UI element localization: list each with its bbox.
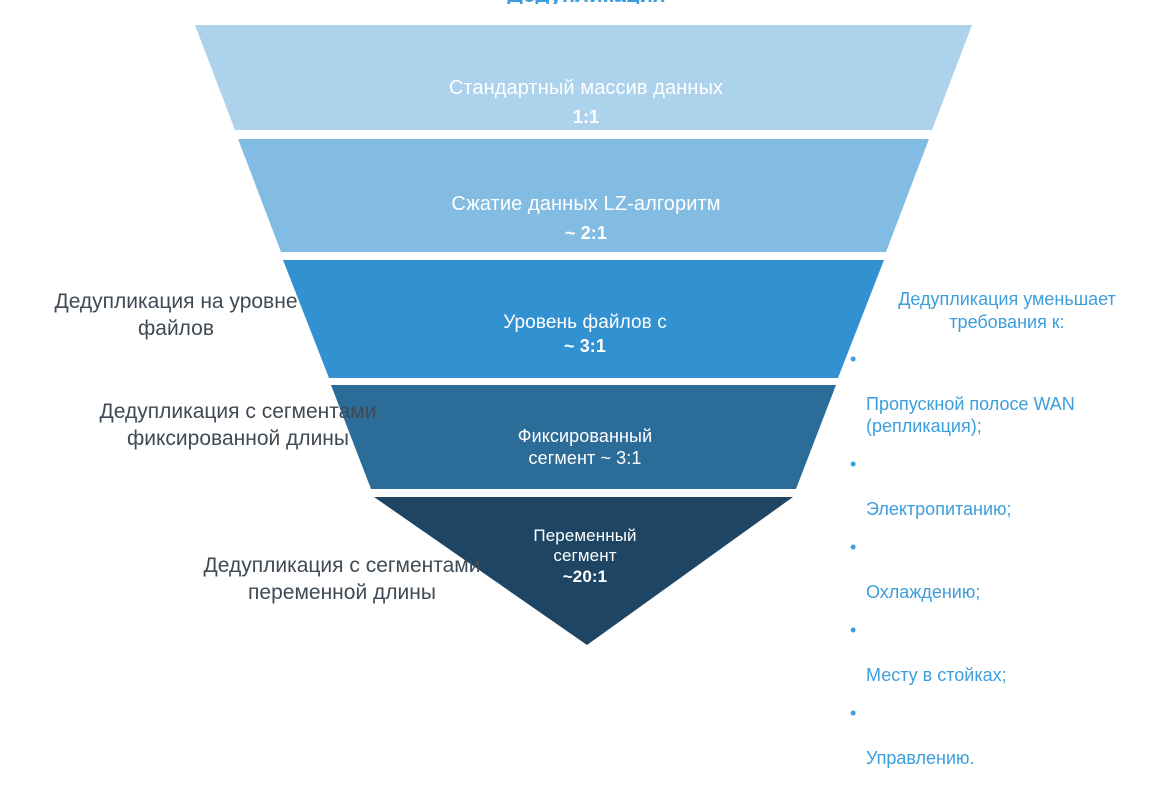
benefits-panel: Дедупликация уменьшает требования к: • П… — [848, 288, 1166, 785]
pyramid-band-2-label: Сжатие данных LZ-алгоритм ~ 2:1 — [316, 168, 856, 269]
left-annotation-file-level: Дедупликация на уровне файлов — [4, 288, 348, 343]
bullet-icon: • — [850, 348, 856, 370]
pyramid-band-2-ratio: ~ 2:1 — [316, 223, 856, 245]
left-annotation-variable-segment: Дедупликация с сегментами переменной дли… — [132, 552, 552, 607]
benefits-heading: Дедупликация уменьшает требования к: — [848, 288, 1166, 334]
pyramid-band-1-label: Стандартный массив данных 1:1 — [316, 52, 856, 153]
pyramid-band-1-title: Стандартный массив данных — [449, 77, 723, 99]
pyramid-band-1-ratio: 1:1 — [316, 107, 856, 129]
diagram-canvas: Дедупликация Стандартный массив данных 1… — [0, 0, 1173, 672]
list-item-text: Электропитанию; — [866, 499, 1012, 519]
list-item: • Управлению. — [848, 702, 1166, 769]
list-item-text: Управлению. — [866, 748, 975, 768]
pyramid-band-3-title: Уровень файлов с — [503, 312, 667, 333]
list-item: • Охлаждению; — [848, 536, 1166, 603]
list-item-text: Охлаждению; — [866, 582, 980, 602]
bullet-icon: • — [850, 536, 856, 558]
list-item: • Пропускной полосе WAN (репликация); — [848, 348, 1166, 437]
list-item-text: Пропускной полосе WAN (репликация); — [866, 394, 1075, 436]
left-annotation-fixed-segment: Дедупликация с сегментами фиксированной … — [38, 398, 438, 453]
pyramid-band-3-label: Уровень файлов с ~ 3:1 — [370, 288, 800, 381]
benefits-bullet-list: • Пропускной полосе WAN (репликация); • … — [848, 348, 1166, 769]
bullet-icon: • — [850, 702, 856, 724]
bullet-icon: • — [850, 619, 856, 641]
list-item: • Месту в стойках; — [848, 619, 1166, 686]
bullet-icon: • — [850, 453, 856, 475]
pyramid-band-4-label: Фиксированный сегмент ~ 3:1 — [420, 404, 750, 470]
list-item: • Электропитанию; — [848, 453, 1166, 520]
pyramid-band-4-title: Фиксированный сегмент ~ 3:1 — [518, 426, 652, 468]
pyramid-band-2-title: Сжатие данных LZ-алгоритм — [451, 193, 720, 215]
list-item-text: Месту в стойках; — [866, 665, 1007, 685]
pyramid-band-3-ratio: ~ 3:1 — [370, 336, 800, 358]
